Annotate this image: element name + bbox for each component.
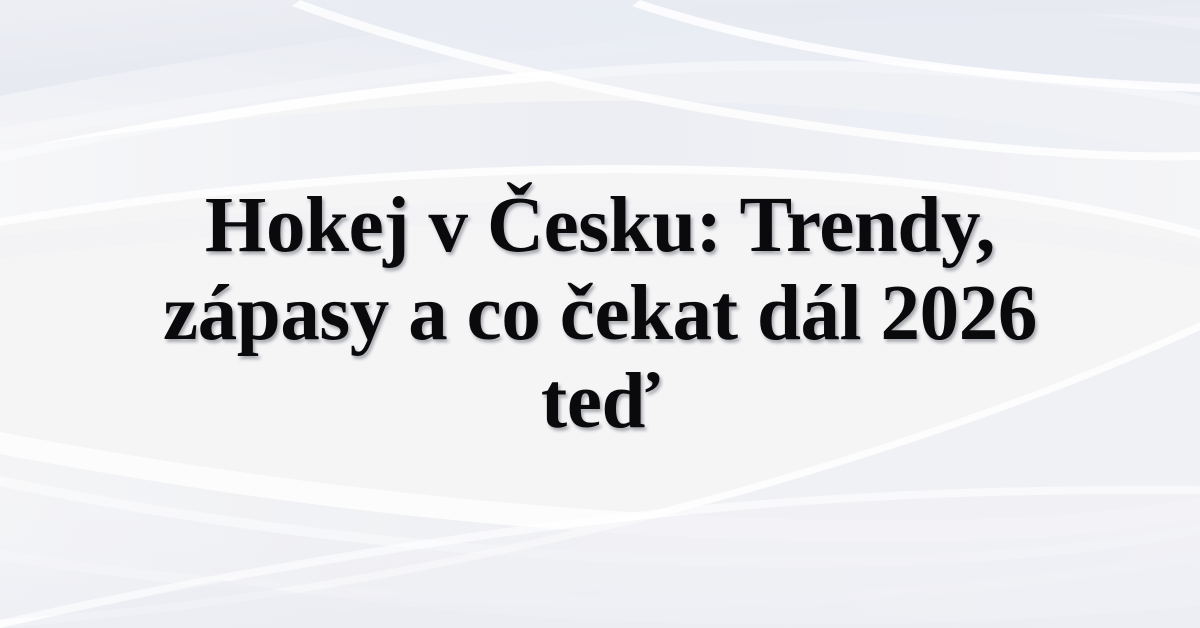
page-title-line-3: teď [163, 358, 1037, 446]
page-title-line-1: Hokej v Česku: Trendy, [163, 182, 1037, 270]
page-title-line-2: zápasy a co čekat dál 2026 [163, 270, 1037, 358]
page-title: Hokej v Česku: Trendy, zápasy a co čekat… [163, 182, 1037, 446]
title-card: Hokej v Česku: Trendy, zápasy a co čekat… [0, 0, 1200, 628]
title-block: Hokej v Česku: Trendy, zápasy a co čekat… [0, 0, 1200, 628]
